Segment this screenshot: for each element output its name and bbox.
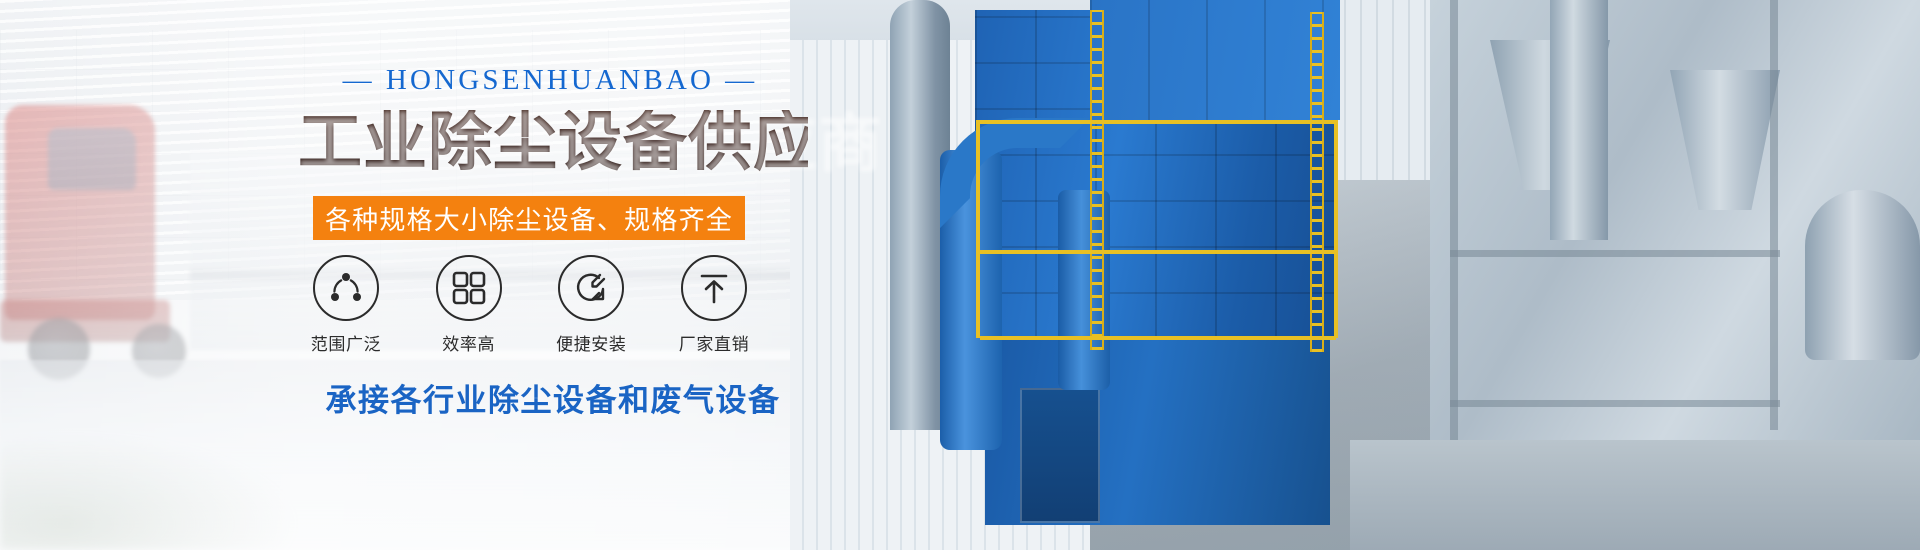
photo-exhaust-stack xyxy=(1550,0,1608,240)
photo-yellow-rail-bottom xyxy=(980,336,1336,340)
feature-item-factory-direct[interactable]: 厂家直销 xyxy=(668,255,760,355)
photo-yellow-rail-top xyxy=(976,120,1338,124)
photo-cross-beam-1 xyxy=(1450,250,1780,257)
feature-label-efficiency: 效率高 xyxy=(423,330,515,355)
brand-tagline: —HONGSENHUANBAO— xyxy=(300,64,800,97)
tagline-dash-left: — xyxy=(332,64,386,97)
feature-item-efficiency[interactable]: 效率高 xyxy=(423,255,515,355)
page-title: 工业除尘设备供应商 xyxy=(298,110,808,174)
photo-support-beam-2 xyxy=(1770,0,1778,430)
dust-collector-photo xyxy=(790,0,1920,550)
banner-content: —HONGSENHUANBAO— 工业除尘设备供应商 各种规格大小除尘设备、规格… xyxy=(0,0,900,550)
photo-yellow-ladder-right xyxy=(1310,12,1324,352)
highlight-banner-text: 各种规格大小除尘设备、规格齐全 xyxy=(325,200,733,237)
highlight-banner: 各种规格大小除尘设备、规格齐全 xyxy=(313,196,745,240)
feature-label-range: 范围广泛 xyxy=(300,330,392,355)
photo-yellow-rail-mid xyxy=(976,250,1338,254)
feature-list: 范围广泛 效率高 xyxy=(300,255,760,355)
feature-label-factory-direct: 厂家直销 xyxy=(668,330,760,355)
photo-yellow-rail-vert-right xyxy=(1334,120,1338,338)
tagline-text: HONGSENHUANBAO xyxy=(386,64,714,96)
network-nodes-icon xyxy=(313,255,379,321)
feature-item-range[interactable]: 范围广泛 xyxy=(300,255,392,355)
arrow-up-bar-icon xyxy=(681,255,747,321)
photo-yellow-rail-vert-left xyxy=(976,120,980,338)
photo-cross-beam-2 xyxy=(1450,400,1780,407)
hero-banner: —HONGSENHUANBAO— 工业除尘设备供应商 各种规格大小除尘设备、规格… xyxy=(0,0,1920,550)
tagline-dash-right: — xyxy=(714,64,768,97)
photo-access-door xyxy=(1020,388,1100,523)
photo-ground-strip xyxy=(1350,440,1920,550)
photo-storage-tank xyxy=(1805,190,1920,360)
feature-label-installation: 便捷安装 xyxy=(545,330,637,355)
photo-yellow-ladder-left xyxy=(1090,10,1104,350)
feature-item-installation[interactable]: 便捷安装 xyxy=(545,255,637,355)
photo-blue-baghouse-upper xyxy=(1090,0,1340,120)
banner-subline: 承接各行业除尘设备和废气设备 xyxy=(298,375,808,420)
grid-squares-icon xyxy=(436,255,502,321)
wrench-icon xyxy=(558,255,624,321)
